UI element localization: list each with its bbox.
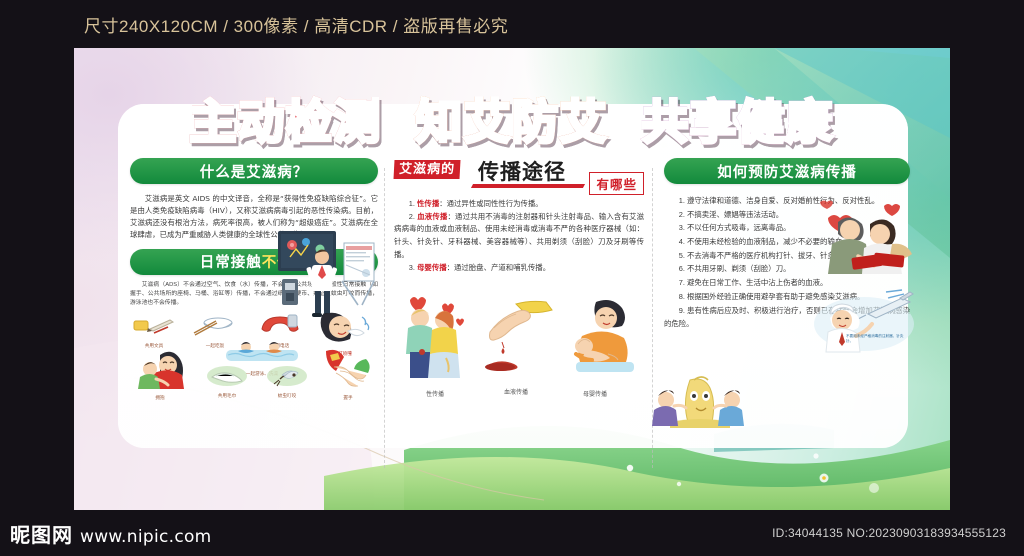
page-title: 主动检测知艾防艾共享健康 (74, 86, 950, 152)
figure-caption: 血液传播 (476, 387, 556, 396)
icon-caption: 握手 (322, 395, 374, 401)
column-divider-left (384, 168, 385, 468)
transmission-item-2-keyword: 血液传播 (417, 212, 447, 221)
section-transmission-routes: 艾滋病的 传播途径 有哪些 1. 性传播：通过异性或同性性行为传播。 2. 血液… (394, 158, 644, 408)
poster-canvas[interactable]: 主动检测知艾防艾共享健康 什么是艾滋病？ 艾滋病是英文 AIDS 的中文译音，全… (74, 48, 950, 510)
transmission-title: 传播途径 (478, 156, 566, 186)
transmission-suffix: 有哪些 (589, 172, 644, 195)
icon-mosquito-bite: 蚊虫叮咬 (266, 365, 308, 399)
transmission-item-3-num: 3. (409, 263, 415, 272)
couple-illustration (818, 200, 914, 274)
headline-part-2: 知艾防艾 (412, 86, 612, 152)
transmission-item-2: 2. 血液传播：通过共用不消毒的注射器和针头注射毒品、输入含有艾滋病病毒的血液或… (394, 211, 644, 262)
icon-shared-towel: 共用毛巾 (206, 365, 248, 399)
section-header-prevention-label: 如何预防艾滋病传播 (717, 161, 857, 182)
section-header-what-is-aids: 什么是艾滋病？ (130, 158, 378, 184)
section-prevention: 如何预防艾滋病传播 1. 遵守法律和道德、洁身自爱、反对婚前性行为、反对性乱。 … (664, 158, 910, 331)
transmission-item-3-keyword: 母婴传播 (417, 263, 447, 272)
image-id-code: ID:34044135 NO:20230903183934555123 (772, 526, 1014, 540)
figure-mother-to-child: 母婴传播 (552, 296, 638, 398)
icon-hugging: 拥抱 (132, 349, 188, 401)
screenshot-root: 尺寸240X120CM / 300像素 / 高清CDR / 盗版再售必究 (0, 0, 1024, 556)
icon-handshake: 握手 (322, 347, 374, 401)
section-header-prevention: 如何预防艾滋病传播 (664, 158, 910, 184)
transmission-figures: 性传播 血液传播 (394, 290, 644, 408)
footer-bar: 昵图网 www.nipic.com ID:34044135 NO:2023090… (0, 510, 1024, 556)
transmission-item-1-num: 1. (409, 199, 415, 208)
brand-name-cn: 昵图网 (10, 519, 73, 548)
transmission-item-3: 3. 母婴传播：通过胎盘、产道和哺乳传播。 (394, 262, 644, 275)
figure-caption: 性传播 (398, 389, 472, 398)
meta-strip-text: 尺寸240X120CM / 300像素 / 高清CDR / 盗版再售必究 (84, 12, 508, 37)
headline-part-3: 共享健康 (638, 86, 838, 152)
transmission-item-3-text: ：通过胎盘、产道和哺乳传播。 (447, 263, 550, 272)
section-what-is-aids: 什么是艾滋病？ 艾滋病是英文 AIDS 的中文译音，全称是“获得性免疫缺陷综合征… (130, 158, 378, 397)
figure-sexual-transmission: 性传播 (398, 290, 472, 398)
headline-part-1: 主动检测 (186, 86, 386, 152)
meta-strip: 尺寸240X120CM / 300像素 / 高清CDR / 盗版再售必究 (0, 0, 1024, 48)
figure-blood-transmission: 血液传播 (476, 298, 556, 396)
transmission-item-2-num: 2. (409, 212, 415, 221)
icon-shared-stationery: 共用文具 (132, 315, 176, 349)
transmission-item-1: 1. 性传播：通过异性或同性性行为传播。 (394, 198, 644, 211)
syringe-caption: 不要用未经严格消毒的注射器、针灸针。 (846, 334, 908, 344)
condom-mascot-illustration (652, 374, 748, 436)
transmission-item-1-text: ：通过异性或同性性行为传播。 (439, 199, 542, 208)
daily-contact-main: 日常接触 (200, 251, 262, 272)
transmission-item-1-keyword: 性传播 (417, 199, 439, 208)
icon-caption: 共用毛巾 (206, 393, 248, 399)
daily-contact-icon-grid: 共用文具 一起吃饭 共用电话 (130, 313, 378, 397)
transmission-tag: 艾滋病的 (394, 160, 461, 179)
transmission-underline (471, 184, 585, 188)
icon-caption: 拥抱 (132, 395, 188, 401)
brand-url: www.nipic.com (80, 527, 212, 547)
icon-caption: 蚊虫叮咬 (266, 393, 308, 399)
doctor-presentation-illustration (276, 227, 380, 323)
transmission-header: 艾滋病的 传播途径 有哪些 (394, 158, 644, 192)
section-header-what-is-aids-label: 什么是艾滋病？ (200, 161, 309, 182)
transmission-list: 1. 性传播：通过异性或同性性行为传播。 2. 血液传播：通过共用不消毒的注射器… (394, 198, 644, 274)
figure-caption: 母婴传播 (552, 389, 638, 398)
site-brand[interactable]: 昵图网 www.nipic.com (10, 519, 212, 548)
